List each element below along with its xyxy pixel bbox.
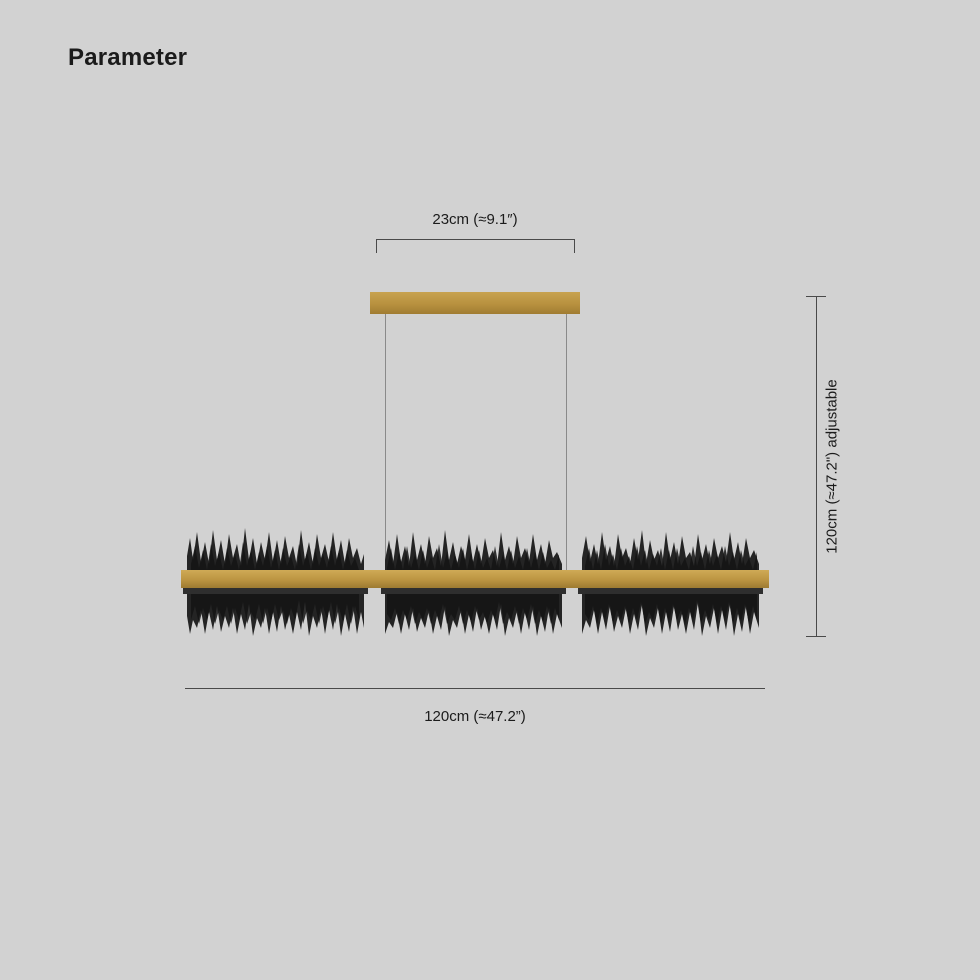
- top-dimension-tick-left: [376, 239, 377, 253]
- suspension-cord-right: [566, 314, 567, 572]
- top-dimension-tick-right: [574, 239, 575, 253]
- top-width-dimension-label: 23cm (≈9.1″): [375, 211, 575, 228]
- page-title: Parameter: [68, 44, 187, 72]
- height-dimension-line: [816, 296, 817, 636]
- brass-linear-bar: [181, 570, 769, 588]
- ceiling-canopy: [370, 292, 580, 314]
- parameter-diagram-page: Parameter 23cm (≈9.1″) 120cm (≈47.2") ad…: [0, 0, 980, 980]
- bottom-dimension-line: [185, 688, 765, 689]
- height-dimension-label: 120cm (≈47.2") adjustable: [824, 347, 841, 587]
- height-dimension-tick-bottom: [806, 636, 826, 637]
- height-dimension-tick-top: [806, 296, 826, 297]
- top-dimension-line: [376, 239, 574, 240]
- overall-length-label: 120cm (≈47.2”): [375, 708, 575, 725]
